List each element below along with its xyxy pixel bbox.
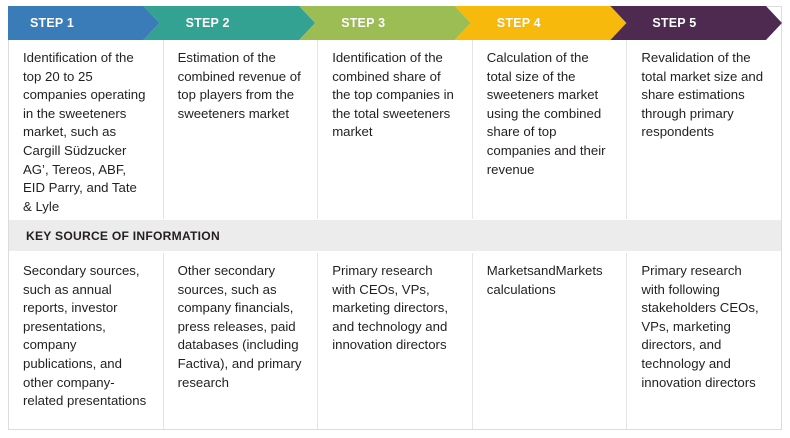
key-source-3: Primary research with CEOs, VPs, marketi… [318,253,473,429]
step-description-row: Identification of the top 20 to 25 compa… [9,40,781,219]
methodology-figure: STEP 1 STEP 2 STEP 3 STEP 4 STEP 5 Ident… [0,0,790,438]
step-description-4: Calculation of the total size of the swe… [473,40,628,219]
key-source-row: Secondary sources, such as annual report… [9,253,781,429]
step-label-5: STEP 5 [652,16,696,30]
step-description-2: Estimation of the combined revenue of to… [164,40,319,219]
step-chevron-2[interactable]: STEP 2 [160,6,316,40]
step-banner: STEP 1 STEP 2 STEP 3 STEP 4 STEP 5 [8,6,782,40]
key-source-5: Primary research with following stakehol… [627,253,781,429]
step-label-3: STEP 3 [341,16,385,30]
step-label-4: STEP 4 [497,16,541,30]
key-source-4: MarketsandMarkets calculations [473,253,628,429]
step-label-2: STEP 2 [186,16,230,30]
step-label-1: STEP 1 [30,16,74,30]
key-source-band-title: KEY SOURCE OF INFORMATION [26,229,220,243]
key-source-2: Other secondary sources, such as company… [164,253,319,429]
key-source-band: KEY SOURCE OF INFORMATION [9,220,781,251]
step-chevron-4[interactable]: STEP 4 [471,6,627,40]
step-chevron-5[interactable]: STEP 5 [626,6,782,40]
step-description-3: Identification of the combined share of … [318,40,473,219]
step-description-1: Identification of the top 20 to 25 compa… [9,40,164,219]
key-source-1: Secondary sources, such as annual report… [9,253,164,429]
step-chevron-1[interactable]: STEP 1 [8,6,160,40]
step-chevron-3[interactable]: STEP 3 [315,6,471,40]
step-description-5: Revalidation of the total market size an… [627,40,781,219]
